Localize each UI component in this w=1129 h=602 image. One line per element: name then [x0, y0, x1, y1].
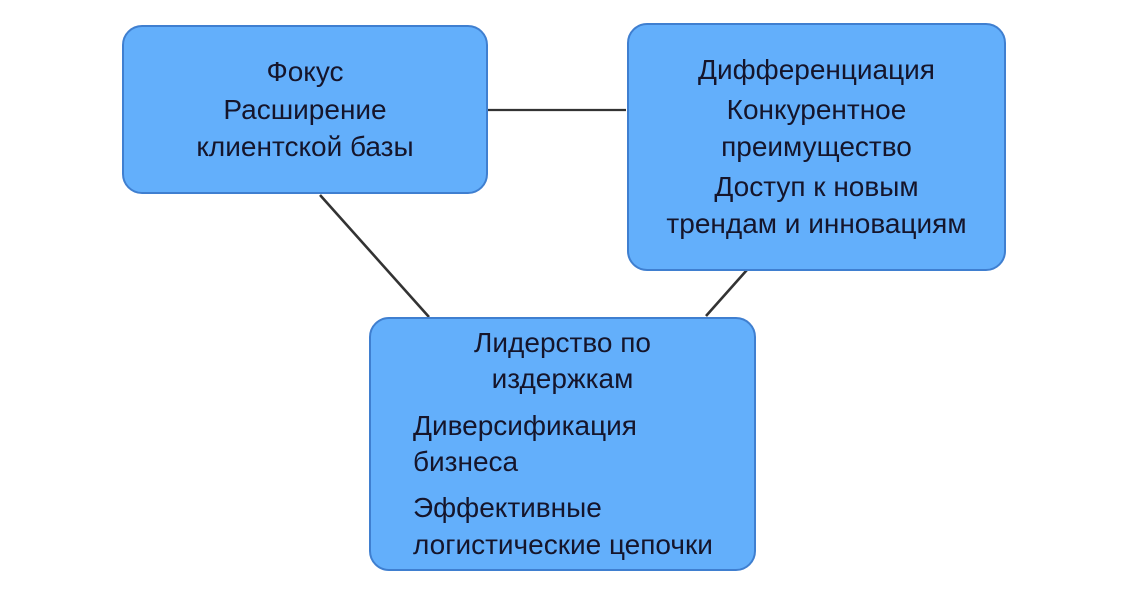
node-cost-leadership-line-3: Диверсификация [413, 408, 754, 444]
node-cost-leadership-line-2: издержкам [371, 361, 754, 397]
node-focus-item-2: Расширение клиентской базы [130, 92, 480, 165]
node-differentiation-line-1: Дифференциация [631, 52, 1002, 88]
node-cost-leadership-item-3: Эффективные логистические цепочки [413, 490, 754, 563]
node-focus-line-2: Расширение [130, 92, 480, 128]
node-cost-leadership-line-4: бизнеса [413, 444, 754, 480]
connector-focus-to-cost [320, 195, 429, 317]
node-cost-leadership-line-1: Лидерство по [371, 325, 754, 361]
node-differentiation-item-1: Дифференциация [631, 52, 1002, 88]
node-cost-leadership-item-2: Диверсификация бизнеса [413, 408, 754, 481]
node-focus-item-1: Фокус [130, 54, 480, 90]
node-cost-leadership-line-6: логистические цепочки [413, 527, 754, 563]
node-cost-leadership-line-5: Эффективные [413, 490, 754, 526]
node-differentiation-line-5: трендам и инновациям [631, 206, 1002, 242]
node-cost-leadership[interactable]: Лидерство по издержкам Диверсификация би… [369, 317, 756, 571]
node-differentiation-line-2: Конкурентное [631, 92, 1002, 128]
node-differentiation-item-2: Конкурентное преимущество [631, 92, 1002, 165]
node-focus-line-1: Фокус [130, 54, 480, 90]
node-focus-line-3: клиентской базы [130, 129, 480, 165]
node-differentiation-line-3: преимущество [631, 129, 1002, 165]
diagram-canvas: Фокус Расширение клиентской базы Диффере… [0, 0, 1129, 602]
node-focus[interactable]: Фокус Расширение клиентской базы [122, 25, 488, 194]
node-differentiation-line-4: Доступ к новым [631, 169, 1002, 205]
node-differentiation[interactable]: Дифференциация Конкурентное преимущество… [627, 23, 1006, 271]
node-differentiation-item-3: Доступ к новым трендам и инновациям [631, 169, 1002, 242]
node-cost-leadership-item-1: Лидерство по издержкам [371, 325, 754, 398]
